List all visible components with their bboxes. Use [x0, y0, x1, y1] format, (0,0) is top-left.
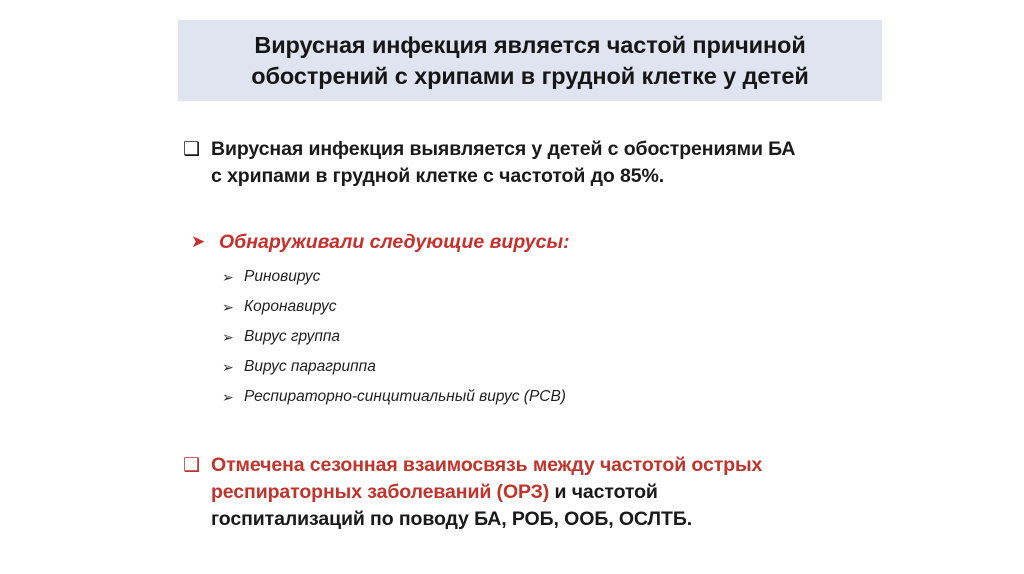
paragraph-seasonality-line-2-red: респираторных заболеваний (ОРЗ)	[211, 481, 549, 503]
arrow-bullet-icon: ➢	[222, 294, 244, 320]
list-item: ➢ Риновирус	[222, 264, 943, 290]
bullet-paragraph-prevalence: ❑ Вирусная инфекция выявляется у детей с…	[183, 136, 943, 190]
list-item: ➢ Вирус группа	[222, 324, 943, 350]
square-bullet-icon: ❑	[183, 452, 211, 479]
square-bullet-icon: ❑	[183, 136, 211, 163]
list-item: ➢ Вирус парагриппа	[222, 354, 943, 380]
paragraph-seasonality-line-3: госпитализаций по поводу БА, РОБ, ООБ, О…	[211, 506, 943, 533]
virus-list-item-label: Вирус группа	[244, 324, 340, 350]
paragraph-prevalence-text: Вирусная инфекция выявляется у детей с о…	[211, 136, 943, 190]
heading-detected-viruses: ➤ Обнаруживали следующие вирусы:	[191, 228, 943, 256]
slide-title-line-1: Вирусная инфекция является частой причин…	[254, 30, 805, 61]
heading-detected-viruses-text: Обнаруживали следующие вирусы:	[219, 228, 570, 256]
arrow-bullet-icon: ➢	[222, 324, 244, 350]
virus-list: ➢ Риновирус ➢ Коронавирус ➢ Вирус группа…	[222, 264, 943, 410]
paragraph-seasonality-line-2-black: и частотой	[549, 481, 658, 503]
list-item: ➢ Респираторно-синцитиальный вирус (РСВ)	[222, 384, 943, 410]
arrow-bullet-icon: ➢	[222, 354, 244, 380]
paragraph-seasonality-line-1-red: Отмечена сезонная взаимосвязь между част…	[211, 454, 762, 476]
bullet-paragraph-seasonality: ❑ Отмечена сезонная взаимосвязь между ча…	[183, 452, 943, 533]
arrow-bullet-icon: ➢	[222, 264, 244, 290]
slide-title-banner: Вирусная инфекция является частой причин…	[178, 20, 882, 101]
virus-list-item-label: Вирус парагриппа	[244, 354, 376, 380]
virus-list-item-label: Риновирус	[244, 264, 320, 290]
arrow-bullet-icon: ➤	[191, 228, 219, 256]
virus-list-item-label: Респираторно-синцитиальный вирус (РСВ)	[244, 384, 566, 410]
slide-title-line-2: обострений с хрипами в грудной клетке у …	[251, 61, 808, 92]
slide-canvas: Вирусная инфекция является частой причин…	[0, 0, 1024, 574]
paragraph-prevalence-line-2: с хрипами в грудной клетке с частотой до…	[211, 163, 943, 190]
list-item: ➢ Коронавирус	[222, 294, 943, 320]
paragraph-seasonality-line-3-black: госпитализаций по поводу БА, РОБ, ООБ, О…	[211, 508, 692, 530]
virus-list-item-label: Коронавирус	[244, 294, 336, 320]
paragraph-prevalence-line-1: Вирусная инфекция выявляется у детей с о…	[211, 136, 943, 163]
paragraph-seasonality-text: Отмечена сезонная взаимосвязь между част…	[211, 452, 943, 533]
arrow-bullet-icon: ➢	[222, 384, 244, 410]
paragraph-seasonality-line-2: респираторных заболеваний (ОРЗ) и частот…	[211, 479, 943, 506]
paragraph-seasonality-line-1: Отмечена сезонная взаимосвязь между част…	[211, 452, 943, 479]
slide-body: ❑ Вирусная инфекция выявляется у детей с…	[183, 136, 943, 533]
